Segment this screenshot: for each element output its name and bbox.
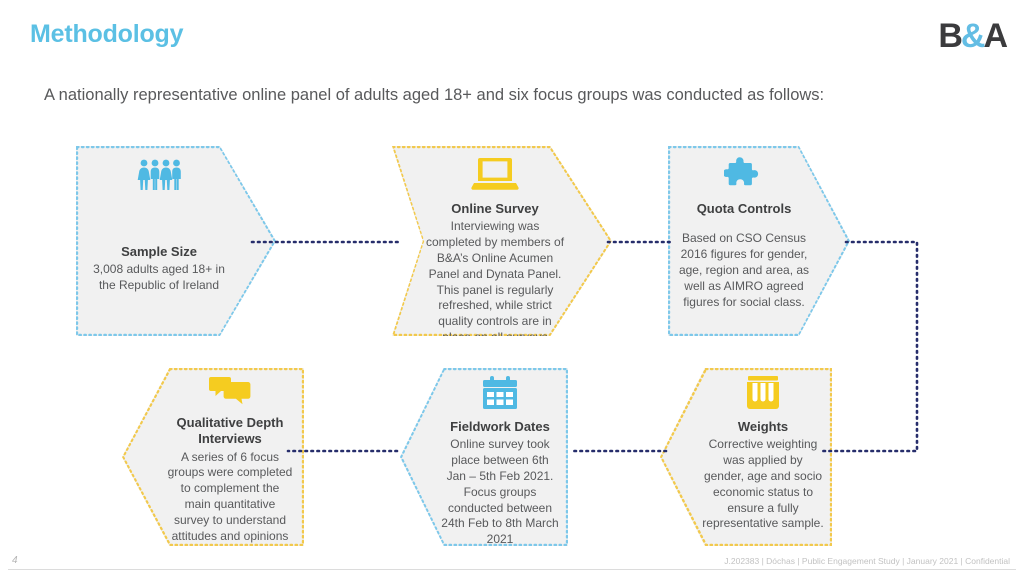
step-body-sample-size: 3,008 adults aged 18+ in the Republic of…	[84, 262, 234, 294]
flow-step-sample-size[interactable]: Sample Size 3,008 adults aged 18+ in the…	[76, 146, 276, 336]
connector-3-6	[822, 242, 917, 451]
logo-ampersand: &	[961, 19, 984, 53]
page-number: 4	[12, 555, 18, 566]
flow-step-online-survey[interactable]: Online Survey Interviewing was completed…	[392, 146, 612, 336]
puzzle-piece-icon	[724, 156, 764, 197]
footer-divider	[8, 569, 1016, 570]
flow-step-fieldwork-dates[interactable]: Fieldwork Dates Online survey took place…	[400, 368, 568, 546]
test-tubes-icon	[745, 376, 781, 415]
slide-subtitle: A nationally representative online panel…	[44, 86, 824, 105]
step-body-quota-controls: Based on CSO Census 2016 figures for gen…	[678, 231, 810, 310]
calendar-icon	[482, 376, 518, 415]
step-heading-qualitative-depth-interviews: Qualitative Depth Interviews	[166, 415, 294, 448]
slide-canvas: { "slide": { "title": "Methodology", "su…	[0, 0, 1024, 578]
brand-logo: B&A	[910, 16, 1006, 56]
speech-bubbles-icon	[209, 376, 251, 411]
flow-step-weights[interactable]: Weights Corrective weighting was applied…	[660, 368, 832, 546]
step-heading-online-survey: Online Survey	[451, 201, 538, 217]
logo-letter-b: B	[938, 19, 961, 53]
footer-metadata: J.202383 | Dóchas | Public Engagement St…	[724, 556, 1010, 566]
step-heading-fieldwork-dates: Fieldwork Dates	[450, 419, 550, 435]
logo-letter-a: A	[983, 19, 1006, 53]
step-body-online-survey: Interviewing was completed by members of…	[424, 219, 566, 361]
step-body-qualitative-depth-interviews: A series of 6 focus groups were complete…	[166, 450, 294, 561]
laptop-icon	[471, 156, 519, 197]
step-heading-quota-controls: Quota Controls	[697, 201, 792, 217]
people-group-icon	[137, 158, 181, 197]
flow-step-quota-controls[interactable]: Quota Controls Based on CSO Census 2016 …	[668, 146, 850, 336]
step-body-fieldwork-dates: Online survey took place between 6th Jan…	[440, 437, 560, 548]
step-heading-sample-size: Sample Size	[84, 244, 234, 260]
page-title: Methodology	[30, 20, 183, 49]
step-heading-weights: Weights	[738, 419, 788, 435]
flow-step-qualitative-depth-interviews[interactable]: Qualitative Depth Interviews A series of…	[122, 368, 304, 546]
step-body-weights: Corrective weighting was applied by gend…	[702, 437, 824, 532]
